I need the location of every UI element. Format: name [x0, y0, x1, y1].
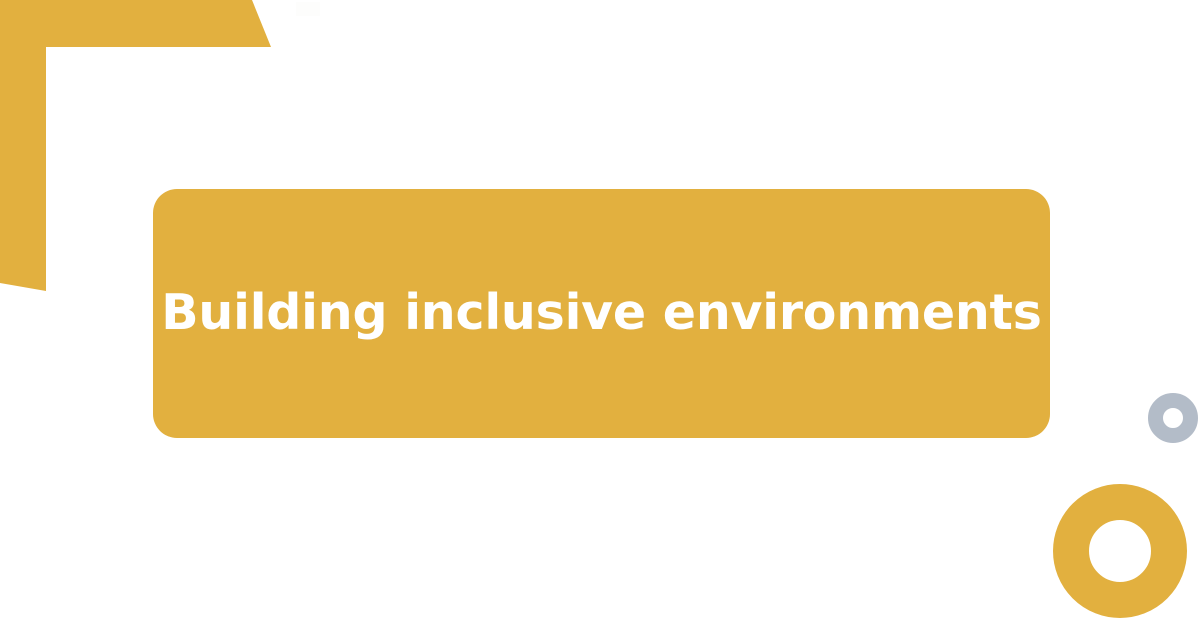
background-speck [296, 2, 320, 16]
banner-canvas: Building inclusive environments [0, 0, 1200, 630]
page-title: Building inclusive environments [161, 286, 1041, 341]
large-yellow-ring-icon [1053, 484, 1187, 618]
small-gray-ring-icon [1148, 393, 1198, 443]
headline-plate: Building inclusive environments [153, 189, 1050, 438]
